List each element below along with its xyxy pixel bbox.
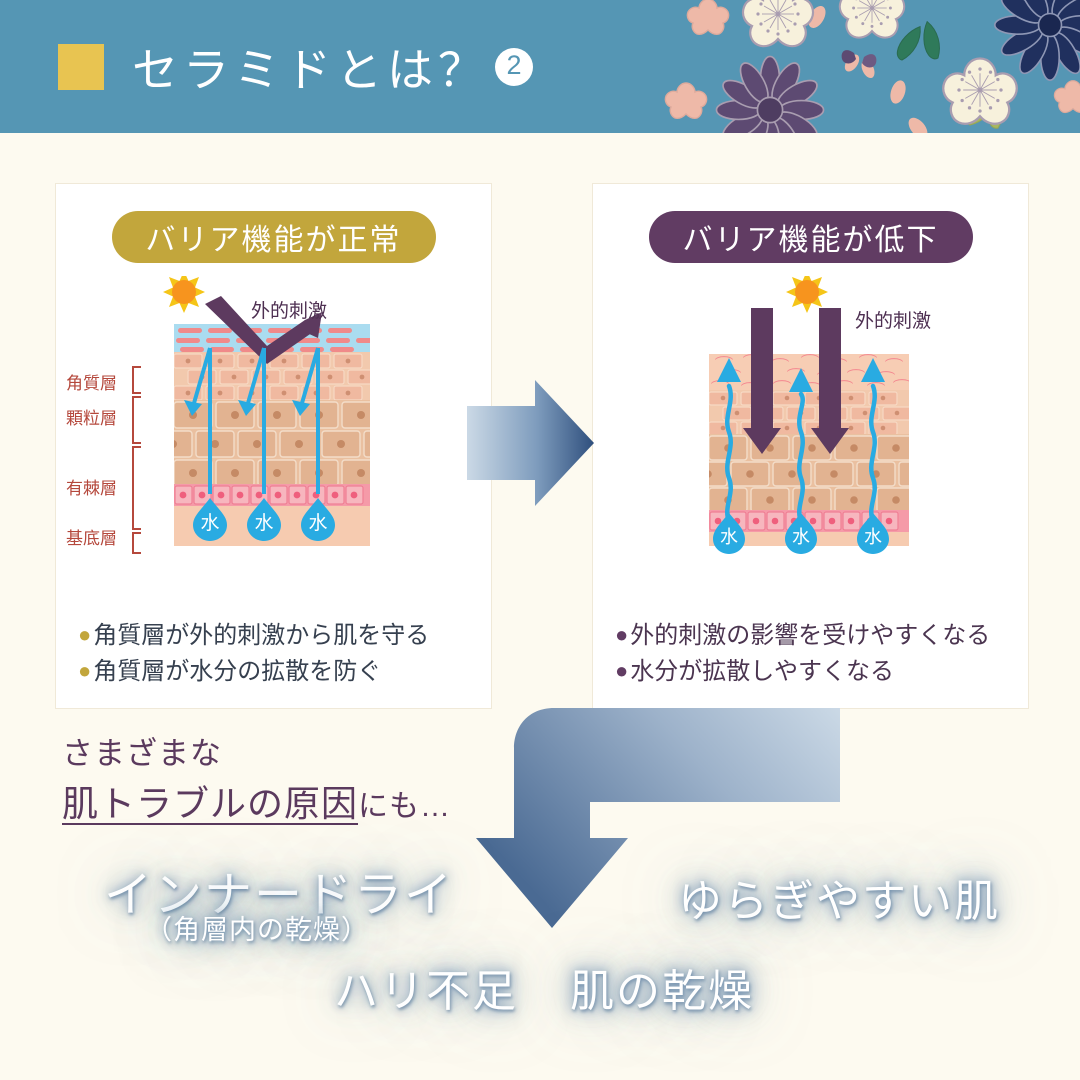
bullet-dot-icon: ● (615, 654, 628, 688)
cause-tail-text: にも… (358, 790, 451, 823)
panel-normal-bullet-list: ● 角質層が外的刺激から肌を守る ● 角質層が水分の拡散を防ぐ (78, 618, 429, 690)
panel-reduced-bullet-list: ● 外的刺激の影響を受けやすくなる ● 水分が拡散しやすくなる (615, 618, 990, 690)
panel-normal-barrier: バリア機能が正常 (55, 183, 492, 709)
trouble-sensitive-skin: ゆらぎやすい肌 (678, 865, 1000, 929)
trouble-inner-dry-subtitle: （角層内の乾燥） (145, 908, 369, 947)
svg-text:水: 水 (308, 512, 327, 534)
page-title: セラミドとは？ 2 (132, 34, 533, 100)
water-drop-group: 水 水 水 (193, 498, 335, 541)
bracket-granular (132, 396, 141, 444)
bracket-corneum (132, 366, 141, 394)
bullet-dot-icon: ● (78, 618, 91, 652)
page-title-text: セラミドとは？ (132, 34, 489, 100)
skin-layer-label-granular: 顆粒層 (66, 404, 117, 429)
list-item: ● 水分が拡散しやすくなる (615, 654, 990, 690)
list-item: ● 角質層が外的刺激から肌を守る (78, 618, 429, 654)
list-item: ● 角質層が水分の拡散を防ぐ (78, 654, 429, 690)
bracket-basal (132, 532, 141, 554)
skin-trouble-cause-text: さまざまな 肌トラブルの原因にも… (62, 728, 451, 827)
trouble-skin-dryness: 肌の乾燥 (570, 955, 754, 1019)
header-square-marker (58, 44, 104, 90)
bullet-dot-icon: ● (78, 654, 91, 688)
bullet-text: 角質層が水分の拡散を防ぐ (93, 654, 381, 690)
bullet-text: 角質層が外的刺激から肌を守る (93, 618, 429, 654)
page-header: セラミドとは？ 2 (0, 0, 1080, 133)
svg-text:水: 水 (864, 527, 882, 547)
cause-line-1: さまざまな (62, 728, 451, 773)
sun-icon (786, 276, 828, 313)
bullet-dot-icon: ● (615, 618, 628, 652)
page-number-badge: 2 (495, 48, 533, 86)
skin-layer-label-basal: 基底層 (66, 524, 117, 549)
transition-arrow-right (463, 378, 598, 508)
panel-reduced-barrier: バリア機能が低下 (592, 183, 1029, 709)
skin-layer-label-corneum: 角質層 (66, 369, 117, 394)
sun-icon (163, 276, 205, 313)
svg-text:水: 水 (792, 527, 810, 547)
external-stimulus-label-normal: 外的刺激 (251, 296, 327, 323)
bullet-text: 水分が拡散しやすくなる (630, 654, 894, 690)
bullet-text: 外的刺激の影響を受けやすくなる (630, 618, 990, 654)
cause-line-2: 肌トラブルの原因にも… (62, 775, 451, 827)
skin-diagram-reduced: 水 水 水 (611, 276, 1011, 576)
cause-underlined-text: 肌トラブルの原因 (62, 783, 358, 824)
bracket-spinous (132, 446, 141, 530)
svg-text:水: 水 (254, 512, 273, 534)
svg-text:水: 水 (200, 512, 219, 534)
skin-layer-label-spinous: 有棘層 (66, 474, 117, 499)
svg-text:水: 水 (720, 527, 738, 547)
list-item: ● 外的刺激の影響を受けやすくなる (615, 618, 990, 654)
panel-normal-title-pill: バリア機能が正常 (112, 211, 436, 263)
trouble-lack-of-firmness: ハリ不足 (334, 955, 518, 1019)
external-stimulus-label-reduced: 外的刺激 (855, 306, 931, 333)
panel-reduced-title-pill: バリア機能が低下 (649, 211, 973, 263)
